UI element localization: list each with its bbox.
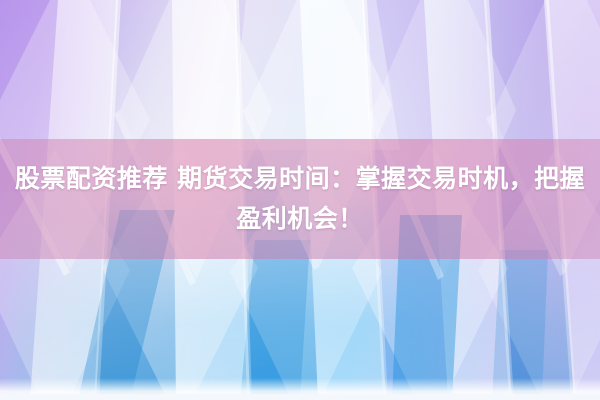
page-title: 股票配资推荐 期货交易时间：掌握交易时机，把握盈利机会！	[8, 159, 592, 239]
headline-band: 股票配资推荐 期货交易时间：掌握交易时机，把握盈利机会！	[0, 139, 600, 259]
bottom-edge-strip	[0, 394, 600, 400]
promo-banner: 股票配资推荐 期货交易时间：掌握交易时机，把握盈利机会！	[0, 0, 600, 400]
